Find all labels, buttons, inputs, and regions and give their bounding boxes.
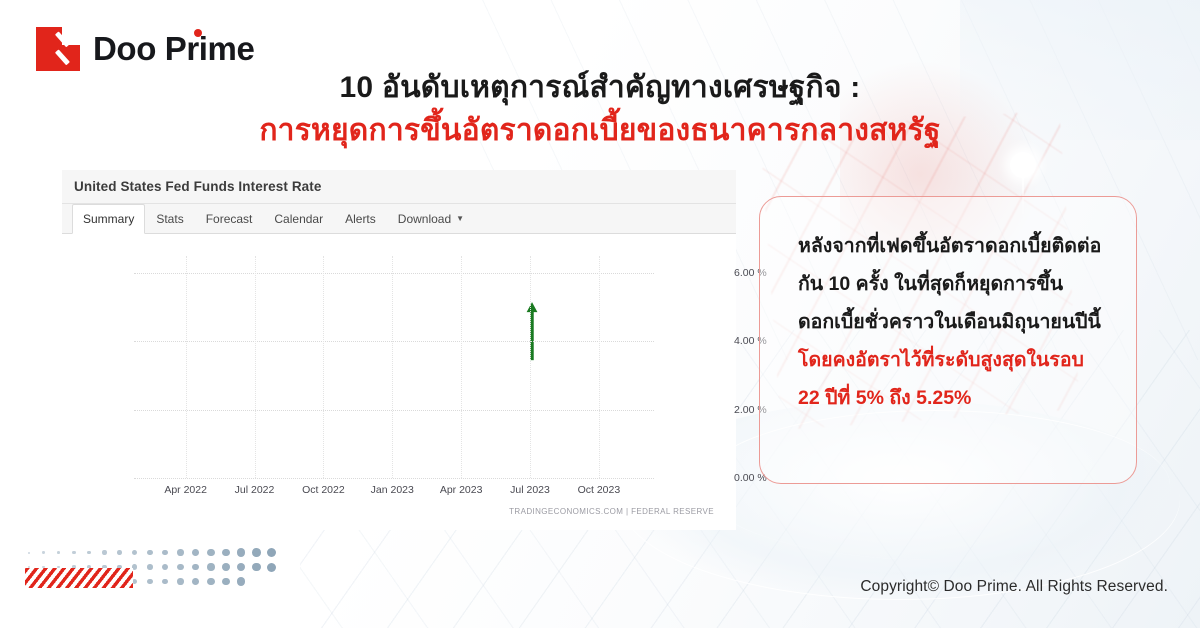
decorative-dot (147, 550, 153, 556)
chart-titlebar: United States Fed Funds Interest Rate (62, 170, 736, 204)
decorative-dot (207, 578, 214, 585)
headline-line-secondary: การหยุดการขึ้นอัตราดอกเบี้ยของธนาคารกลาง… (0, 111, 1200, 152)
decorative-dot (42, 551, 44, 553)
decorative-dot (267, 563, 276, 572)
decorative-dot (147, 564, 153, 570)
footer-copyright: Copyright© Doo Prime. All Rights Reserve… (860, 578, 1168, 596)
chart-gridline-vertical (186, 256, 187, 478)
decorative-dot (192, 578, 199, 585)
tab-summary[interactable]: Summary (72, 204, 145, 234)
logo-slash-lower (55, 50, 70, 66)
decorative-dot (222, 563, 230, 571)
callout-highlight-text: โดยคงอัตราไว้ที่ระดับสูงสุดในรอบ 22 ปีที… (798, 349, 1084, 409)
chart-gridline-vertical (323, 256, 324, 478)
decorative-dot (222, 549, 230, 557)
chart-x-tick-label: Apr 2022 (164, 484, 207, 496)
chart-gridline-vertical (392, 256, 393, 478)
chart-gridline-vertical (530, 256, 531, 478)
chart-x-tick-label: Jul 2022 (235, 484, 275, 496)
decorative-dot (57, 551, 60, 554)
decorative-dot (132, 564, 137, 569)
brand-logo: Doo Prime (36, 27, 254, 71)
chart-x-tick-label: Oct 2023 (578, 484, 621, 496)
chart-x-tick-label: Jul 2023 (510, 484, 550, 496)
chart-gridline-horizontal (134, 410, 654, 411)
tab-stats-label: Stats (156, 212, 183, 226)
decorative-dot (117, 550, 122, 555)
tab-calendar-label: Calendar (274, 212, 323, 226)
chart-x-tick-label: Oct 2022 (302, 484, 345, 496)
chart-gridline-vertical (599, 256, 600, 478)
decorative-dot (162, 579, 168, 585)
tab-alerts-label: Alerts (345, 212, 376, 226)
chart-tab-bar: Summary Stats Forecast Calendar Alerts D… (62, 204, 736, 234)
decorative-dot (192, 564, 199, 571)
decorative-dot (132, 550, 137, 555)
decorative-dot (252, 548, 261, 557)
chart-gridline-horizontal (134, 478, 654, 479)
decorative-dot (162, 564, 168, 570)
decorative-dot (207, 563, 214, 570)
callout-box: หลังจากที่เฟดขึ้นอัตราดอกเบี้ยติดต่อกัน … (759, 196, 1137, 484)
chart-panel: United States Fed Funds Interest Rate Su… (62, 170, 736, 530)
decorative-dot (222, 578, 230, 586)
tab-forecast-label: Forecast (206, 212, 253, 226)
chart-gridline-vertical (461, 256, 462, 478)
tab-download-label: Download (398, 212, 451, 226)
up-arrow-icon (134, 256, 654, 478)
decorative-dot (237, 563, 245, 571)
page-title: 10 อันดับเหตุการณ์สำคัญทางเศรษฐกิจ : การ… (0, 68, 1200, 151)
tab-alerts[interactable]: Alerts (334, 204, 387, 233)
tab-download[interactable]: Download ▼ (387, 204, 475, 233)
decorative-dot (162, 550, 168, 556)
decorative-dot (102, 550, 106, 554)
brand-name: Doo Prime (93, 30, 254, 68)
decorative-dot (72, 551, 75, 554)
chart-plot-area: 0.00 %2.00 %4.00 %6.00 %Apr 2022Jul 2022… (134, 256, 654, 478)
chart-body: 0.00 %2.00 %4.00 %6.00 %Apr 2022Jul 2022… (62, 234, 736, 530)
decorative-dot (177, 564, 183, 570)
decorative-dot (237, 548, 245, 556)
decorative-dot (207, 549, 214, 556)
chart-x-tick-label: Apr 2023 (440, 484, 483, 496)
chart-gridline-horizontal (134, 273, 654, 274)
tab-stats[interactable]: Stats (145, 204, 194, 233)
doo-prime-logo-icon (36, 27, 80, 71)
decorative-dot (177, 578, 183, 584)
decorative-dot (147, 579, 153, 585)
decorative-dot (267, 548, 276, 557)
callout-body-text: หลังจากที่เฟดขึ้นอัตราดอกเบี้ยติดต่อกัน … (798, 235, 1101, 333)
decorative-dot (132, 579, 137, 584)
headline-line-primary: 10 อันดับเหตุการณ์สำคัญทางเศรษฐกิจ : (0, 68, 1200, 109)
chart-gridline-vertical (255, 256, 256, 478)
chevron-down-icon: ▼ (456, 214, 464, 223)
chart-x-tick-label: Jan 2023 (371, 484, 414, 496)
tab-forecast[interactable]: Forecast (195, 204, 264, 233)
chart-credit: TRADINGECONOMICS.COM | FEDERAL RESERVE (509, 507, 714, 516)
decorative-dot (237, 577, 245, 585)
decorative-dot (252, 563, 261, 572)
chart-title: United States Fed Funds Interest Rate (74, 179, 322, 194)
decorative-dot (177, 549, 183, 555)
decorative-dot (28, 552, 30, 554)
decorative-dot (192, 549, 199, 556)
tab-summary-label: Summary (83, 212, 134, 226)
callout-text: หลังจากที่เฟดขึ้นอัตราดอกเบี้ยติดต่อกัน … (798, 227, 1102, 417)
logo-accent-dot (194, 29, 202, 37)
decorative-red-stripes (25, 568, 133, 588)
chart-gridline-horizontal (134, 341, 654, 342)
decorative-dot (87, 551, 91, 555)
tab-calendar[interactable]: Calendar (263, 204, 334, 233)
